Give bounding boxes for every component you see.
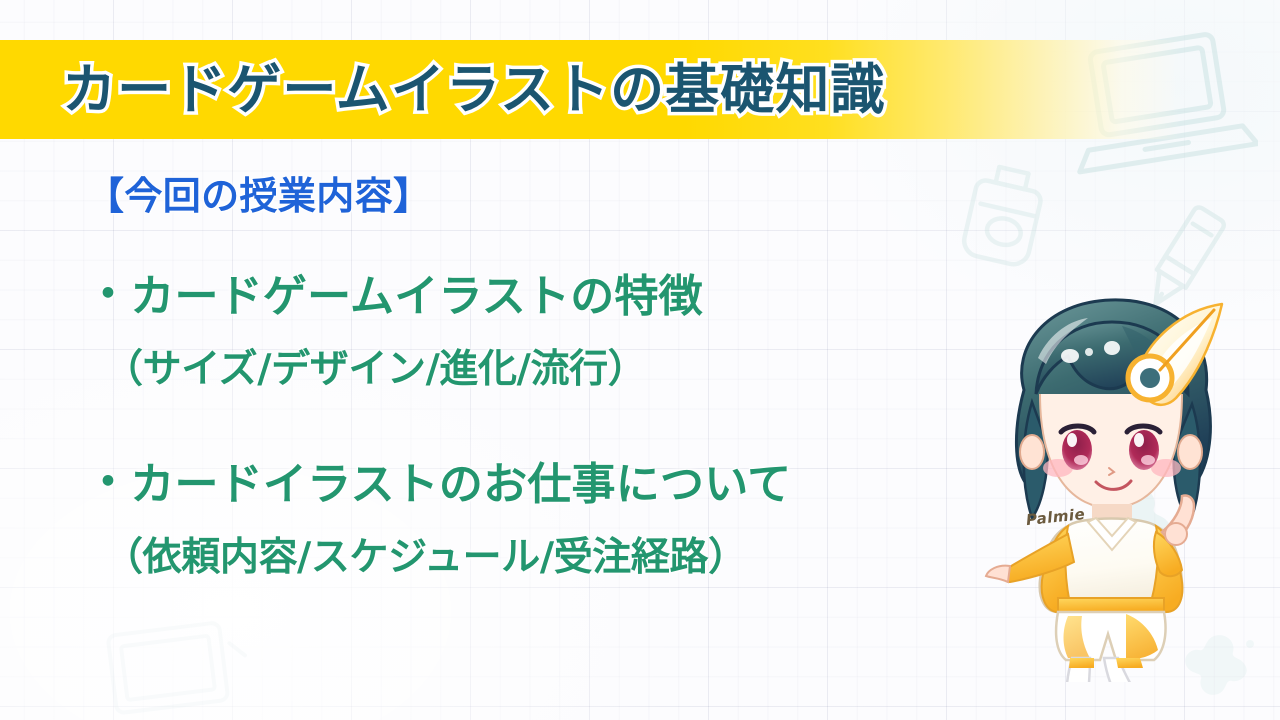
bullet-item-2-sub: （依頼内容/スケジュール/受注経路） — [104, 526, 747, 582]
bullet-marker-icon: ・ — [86, 258, 130, 322]
bullet-marker-icon: ・ — [86, 446, 130, 510]
page-title: カードゲームイラストの基礎知識 — [62, 50, 1062, 130]
bullet-item-2-main-text: カードイラストのお仕事について — [130, 459, 791, 510]
bullet-item-1-main: ・カードゲームイラストの特徴 — [86, 260, 703, 324]
section-heading: 【今回の授業内容】 — [86, 165, 431, 220]
bullet-item-1-main-text: カードゲームイラストの特徴 — [130, 271, 703, 322]
bullet-item-1-sub: （サイズ/デザイン/進化/流行） — [104, 338, 646, 394]
bullet-item-2-main: ・カードイラストのお仕事について — [86, 448, 791, 512]
slide-root: カードゲームイラストの基礎知識 【今回の授業内容】 ・カードゲームイラストの特徴… — [0, 0, 1280, 720]
